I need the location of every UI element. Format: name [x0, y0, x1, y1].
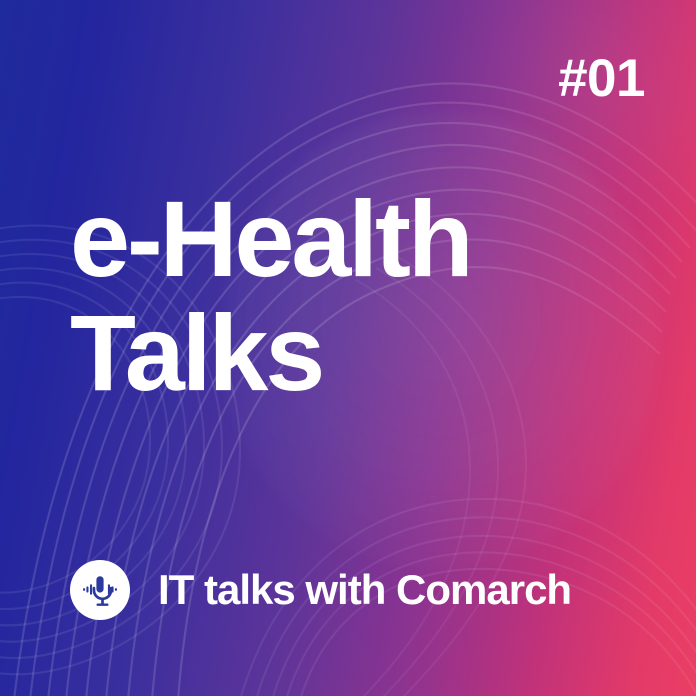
microphone-icon: [79, 569, 121, 611]
episode-number-badge: #01: [558, 52, 645, 105]
title-line-1: e-Health: [70, 182, 471, 296]
title-line-2: Talks: [70, 296, 471, 410]
footer-branding: IT talks with Comarch: [70, 560, 571, 620]
microphone-badge: [70, 560, 130, 620]
podcast-cover-art: #01 e-Health Talks IT talks with Comarch: [0, 0, 696, 696]
footer-series-label: IT talks with Comarch: [158, 566, 571, 614]
page-title: e-Health Talks: [70, 182, 471, 411]
